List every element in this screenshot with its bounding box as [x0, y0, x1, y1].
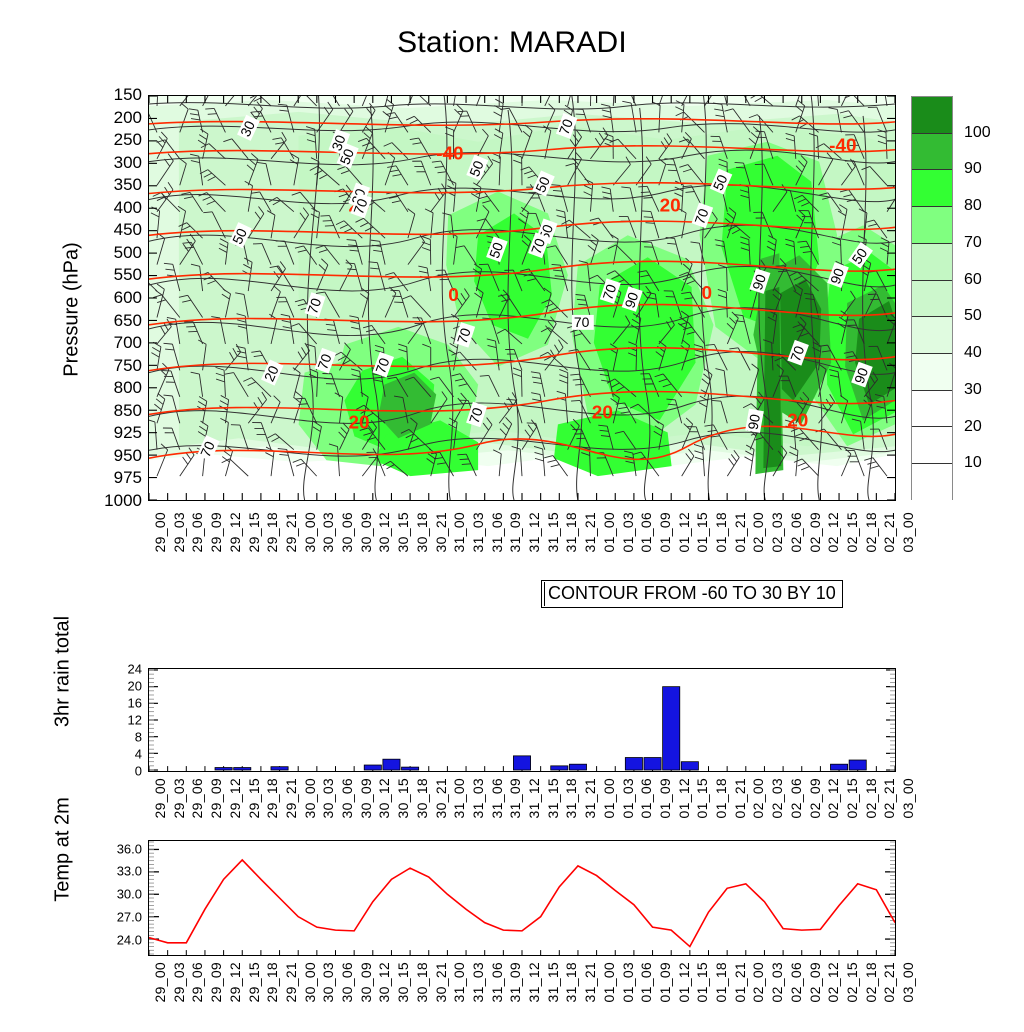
x-tick-label: 01_12 [676, 512, 692, 552]
pressure-tick-label: 1000 [104, 491, 142, 511]
x-tick-label: 29_21 [283, 962, 299, 1002]
x-tick-label: 01_12 [676, 962, 692, 1002]
pressure-tick-label: 950 [114, 446, 142, 466]
red-contour-label: 20 [660, 195, 681, 216]
x-tick-label: 02_12 [825, 962, 841, 1002]
x-tick-label: 02_06 [788, 962, 804, 1002]
colorbar-cell [912, 244, 952, 281]
x-tick-label: 01_00 [601, 962, 617, 1002]
pressure-tick-label: 750 [114, 356, 142, 376]
main-y-axis-labels: 1502002503003504004505005506006507007508… [62, 95, 142, 501]
red-contour-label: 0 [448, 285, 459, 306]
x-tick-label: 30_09 [358, 512, 374, 552]
colorbar-tick-label: 60 [964, 271, 982, 289]
x-tick-label: 01_03 [620, 962, 636, 1002]
pressure-tick-label: 800 [114, 378, 142, 398]
x-tick-label: 31_00 [451, 512, 467, 552]
cross-section-canvas: -40 -40 20 20 0 0 20 20 20 30 30 30 50 5… [149, 96, 895, 500]
pressure-tick-label: 925 [114, 423, 142, 443]
x-tick-label: 01_09 [657, 962, 673, 1002]
x-tick-label: 31_09 [507, 512, 523, 552]
x-tick-label: 30_15 [395, 778, 411, 818]
red-contour-label: 20 [592, 402, 613, 423]
colorbar-tick-label: 100 [964, 124, 991, 142]
x-tick-label: 31_12 [526, 512, 542, 552]
x-tick-label: 01_21 [732, 778, 748, 818]
x-tick-label: 29_21 [283, 512, 299, 552]
x-tick-label: 29_15 [246, 512, 262, 552]
x-tick-label: 02_18 [863, 962, 879, 1002]
contour-note: CONTOUR FROM -60 TO 30 BY 10 [541, 580, 843, 608]
x-tick-label: 29_00 [152, 778, 168, 818]
x-tick-label: 31_09 [507, 962, 523, 1002]
x-tick-label: 31_15 [545, 778, 561, 818]
colorbar-tick-label: 30 [964, 381, 982, 399]
temp-tick-label: 30.0 [117, 887, 142, 902]
x-tick-label: 31_18 [563, 778, 579, 818]
x-tick-label: 02_00 [750, 512, 766, 552]
x-tick-label: 30_21 [433, 778, 449, 818]
colorbar-cell [912, 391, 952, 428]
temp-tick-label: 24.0 [117, 932, 142, 947]
x-tick-label: 02_18 [863, 512, 879, 552]
x-tick-label: 30_21 [433, 512, 449, 552]
temp-tick-label: 36.0 [117, 841, 142, 856]
x-tick-label: 01_15 [694, 962, 710, 1002]
red-contour-label: 20 [787, 410, 808, 431]
x-tick-label: 29_21 [283, 778, 299, 818]
x-tick-label: 29_15 [246, 778, 262, 818]
x-tick-label: 29_15 [246, 962, 262, 1002]
temp-tick-label: 33.0 [117, 864, 142, 879]
x-tick-label: 02_09 [807, 512, 823, 552]
svg-text:70: 70 [574, 314, 590, 330]
red-contour-label: -40 [829, 136, 856, 157]
x-tick-label: 01_12 [676, 778, 692, 818]
pressure-tick-label: 450 [114, 220, 142, 240]
x-tick-label: 01_03 [620, 512, 636, 552]
x-tick-label: 02_12 [825, 778, 841, 818]
rain-tick-label: 4 [135, 747, 142, 762]
rain-canvas [149, 669, 895, 771]
x-tick-label: 02_03 [769, 778, 785, 818]
x-tick-label: 01_06 [638, 962, 654, 1002]
temperature-line-chart[interactable] [148, 840, 896, 956]
x-tick-label: 02_21 [881, 512, 897, 552]
x-tick-label: 31_18 [563, 962, 579, 1002]
colorbar-cell [912, 354, 952, 391]
temp-tick-label: 27.0 [117, 910, 142, 925]
rain-x-axis-labels: 29_0029_0329_0629_0929_1229_1529_1829_21… [148, 778, 896, 848]
x-tick-label: 03_00 [900, 962, 916, 1002]
pressure-tick-label: 250 [114, 130, 142, 150]
pressure-tick-label: 500 [114, 243, 142, 263]
colorbar-tick-label: 10 [964, 454, 982, 472]
x-tick-label: 30_00 [302, 512, 318, 552]
x-tick-label: 29_09 [208, 512, 224, 552]
x-tick-label: 03_00 [900, 778, 916, 818]
x-tick-label: 30_12 [376, 778, 392, 818]
pressure-tick-label: 700 [114, 333, 142, 353]
x-tick-label: 02_18 [863, 778, 879, 818]
x-tick-label: 29_18 [264, 778, 280, 818]
x-tick-label: 01_21 [732, 512, 748, 552]
x-tick-label: 01_06 [638, 512, 654, 552]
pressure-tick-label: 200 [114, 108, 142, 128]
red-contour-label: -40 [436, 144, 463, 165]
x-tick-label: 31_06 [489, 962, 505, 1002]
x-tick-label: 29_00 [152, 512, 168, 552]
x-tick-label: 29_06 [189, 962, 205, 1002]
x-tick-label: 29_03 [171, 962, 187, 1002]
x-tick-label: 29_18 [264, 962, 280, 1002]
x-tick-label: 02_06 [788, 778, 804, 818]
x-tick-label: 01_00 [601, 512, 617, 552]
x-tick-label: 03_00 [900, 512, 916, 552]
x-tick-label: 30_00 [302, 962, 318, 1002]
x-tick-label: 31_00 [451, 962, 467, 1002]
x-tick-label: 30_06 [339, 512, 355, 552]
pressure-tick-label: 650 [114, 311, 142, 331]
colorbar-cell [912, 207, 952, 244]
pressure-tick-label: 300 [114, 153, 142, 173]
rain-tick-label: 16 [128, 696, 142, 711]
x-tick-label: 31_06 [489, 778, 505, 818]
x-tick-label: 30_03 [320, 512, 336, 552]
colorbar-cell [912, 170, 952, 207]
x-tick-label: 30_18 [414, 778, 430, 818]
colorbar-tick-label: 90 [964, 160, 982, 178]
red-contour-label: 20 [348, 412, 369, 433]
rain-tick-label: 20 [128, 679, 142, 694]
x-tick-label: 30_12 [376, 512, 392, 552]
x-tick-label: 01_06 [638, 778, 654, 818]
x-tick-label: 01_18 [713, 962, 729, 1002]
red-contour-label: 0 [702, 283, 713, 304]
colorbar-cell [912, 97, 952, 134]
x-tick-label: 31_03 [470, 512, 486, 552]
x-tick-label: 29_18 [264, 512, 280, 552]
page-title: Station: MARADI [0, 26, 1024, 60]
x-tick-label: 30_03 [320, 962, 336, 1002]
x-tick-label: 02_21 [881, 962, 897, 1002]
x-tick-label: 31_15 [545, 962, 561, 1002]
colorbar-cell [912, 317, 952, 354]
colorbar-tick-label: 40 [964, 344, 982, 362]
x-tick-label: 31_21 [582, 778, 598, 818]
colorbar-cell [912, 464, 952, 501]
x-tick-label: 02_15 [844, 778, 860, 818]
rain-bar-chart[interactable] [148, 668, 896, 772]
temperature-canvas [149, 841, 895, 955]
x-tick-label: 29_12 [227, 962, 243, 1002]
rain-tick-label: 12 [128, 713, 142, 728]
colorbar-tick-label: 70 [964, 234, 982, 252]
x-tick-label: 29_12 [227, 778, 243, 818]
x-tick-label: 01_15 [694, 778, 710, 818]
pressure-tick-label: 400 [114, 198, 142, 218]
x-tick-label: 01_18 [713, 778, 729, 818]
x-tick-label: 30_09 [358, 962, 374, 1002]
x-tick-label: 02_03 [769, 512, 785, 552]
colorbar-tick-label: 20 [964, 418, 982, 436]
x-tick-label: 29_03 [171, 512, 187, 552]
pressure-tick-label: 350 [114, 175, 142, 195]
humidity-colorbar[interactable] [911, 96, 953, 500]
x-tick-label: 30_03 [320, 778, 336, 818]
pressure-tick-label: 850 [114, 401, 142, 421]
x-tick-label: 02_09 [807, 962, 823, 1002]
temp-y-axis-title: Temp at 2m [52, 735, 75, 965]
colorbar-cell [912, 281, 952, 318]
x-tick-label: 02_15 [844, 962, 860, 1002]
x-tick-label: 30_15 [395, 962, 411, 1002]
x-tick-label: 31_21 [582, 512, 598, 552]
x-tick-label: 30_06 [339, 778, 355, 818]
x-tick-label: 01_00 [601, 778, 617, 818]
temp-y-axis-labels: 24.027.030.033.036.0 [88, 840, 142, 956]
x-tick-label: 30_09 [358, 778, 374, 818]
x-tick-label: 01_09 [657, 512, 673, 552]
x-tick-label: 30_18 [414, 962, 430, 1002]
x-tick-label: 01_18 [713, 512, 729, 552]
x-tick-label: 31_06 [489, 512, 505, 552]
colorbar-tick-label: 50 [964, 307, 982, 325]
x-tick-label: 31_03 [470, 778, 486, 818]
pressure-tick-label: 150 [114, 85, 142, 105]
x-tick-label: 01_21 [732, 962, 748, 1002]
x-tick-label: 02_00 [750, 962, 766, 1002]
x-tick-label: 31_12 [526, 778, 542, 818]
pressure-tick-label: 550 [114, 265, 142, 285]
x-tick-label: 29_09 [208, 962, 224, 1002]
x-tick-label: 31_18 [563, 512, 579, 552]
x-tick-label: 29_06 [189, 512, 205, 552]
rain-tick-label: 0 [135, 764, 142, 779]
x-tick-label: 01_09 [657, 778, 673, 818]
x-tick-label: 30_21 [433, 962, 449, 1002]
rain-y-axis-labels: 04812162024 [98, 668, 142, 772]
x-tick-label: 29_09 [208, 778, 224, 818]
x-tick-label: 31_00 [451, 778, 467, 818]
x-tick-label: 31_15 [545, 512, 561, 552]
x-tick-label: 30_06 [339, 962, 355, 1002]
x-tick-label: 31_12 [526, 962, 542, 1002]
pressure-tick-label: 975 [114, 468, 142, 488]
x-tick-label: 29_06 [189, 778, 205, 818]
x-tick-label: 02_21 [881, 778, 897, 818]
x-tick-label: 02_15 [844, 512, 860, 552]
colorbar-tick-label: 80 [964, 197, 982, 215]
pressure-tick-label: 600 [114, 288, 142, 308]
x-tick-label: 02_09 [807, 778, 823, 818]
temp-x-axis-labels: 29_0029_0329_0629_0929_1229_1529_1829_21… [148, 962, 896, 1032]
main-x-axis-labels: 29_0029_0329_0629_0929_1229_1529_1829_21… [148, 512, 896, 582]
colorbar-cell [912, 134, 952, 171]
x-tick-label: 29_03 [171, 778, 187, 818]
x-tick-label: 30_00 [302, 778, 318, 818]
colorbar-cell [912, 427, 952, 464]
x-tick-label: 31_21 [582, 962, 598, 1002]
x-tick-label: 02_06 [788, 512, 804, 552]
x-tick-label: 02_12 [825, 512, 841, 552]
x-tick-label: 31_09 [507, 778, 523, 818]
humidity-cross-section-plot[interactable]: -40 -40 20 20 0 0 20 20 20 30 30 30 50 5… [148, 95, 896, 501]
x-tick-label: 29_00 [152, 962, 168, 1002]
x-tick-label: 02_00 [750, 778, 766, 818]
svg-text:90: 90 [745, 413, 764, 431]
x-tick-label: 30_12 [376, 962, 392, 1002]
x-tick-label: 01_03 [620, 778, 636, 818]
rain-tick-label: 24 [128, 662, 142, 677]
x-tick-label: 30_15 [395, 512, 411, 552]
x-tick-label: 29_12 [227, 512, 243, 552]
x-tick-label: 30_18 [414, 512, 430, 552]
x-tick-label: 01_15 [694, 512, 710, 552]
x-tick-label: 31_03 [470, 962, 486, 1002]
rain-tick-label: 8 [135, 730, 142, 745]
x-tick-label: 02_03 [769, 962, 785, 1002]
